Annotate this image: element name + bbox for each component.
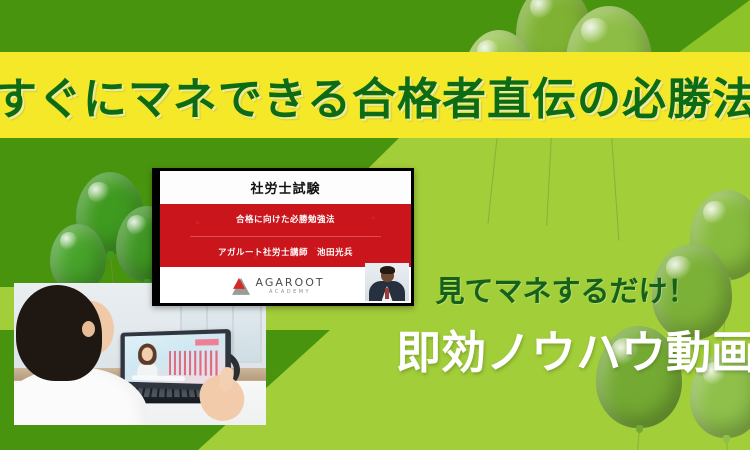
- slide-presenter: アガルート社労士講師 池田光兵: [218, 246, 353, 258]
- slide-footer: AGAROOT ACADEMY: [160, 267, 411, 303]
- slide-red-band: 合格に向けた必勝勉強法 アガルート社労士講師 池田光兵: [160, 204, 411, 267]
- balloon-left-3: [50, 224, 106, 292]
- agaroot-logo-sub: ACADEMY: [256, 290, 325, 295]
- slide-inner: 社労士試験 合格に向けた必勝勉強法 アガルート社労士講師 池田光兵 AGAROO…: [160, 171, 411, 303]
- agaroot-logo-name: AGAROOT: [256, 277, 325, 288]
- promo-text-block: 見てマネするだけ！ 即効ノウハウ動画: [396, 268, 736, 381]
- photo-student: [14, 285, 128, 425]
- presenter-tie: [385, 288, 389, 299]
- screen-lecturer: [137, 343, 157, 376]
- presenter-hair: [380, 266, 395, 274]
- screen-chart: [169, 350, 219, 375]
- lecture-slide: 社労士試験 合格に向けた必勝勉強法 アガルート社労士講師 池田光兵 AGAROO…: [152, 168, 414, 306]
- promo-line-2: 即効ノウハウ動画: [396, 316, 736, 381]
- headline-text: すぐにマネできる合格者直伝の必勝法: [0, 63, 750, 127]
- agaroot-logo: AGAROOT ACADEMY: [232, 277, 325, 295]
- slide-title: 社労士試験: [250, 178, 320, 197]
- headline-bar: すぐにマネできる合格者直伝の必勝法: [0, 52, 750, 138]
- promo-banner: すぐにマネできる合格者直伝の必勝法 社労士試験 合格に向けた必勝勉強法 アガルー…: [0, 0, 750, 450]
- student-ear: [82, 321, 95, 337]
- agaroot-triangle-icon: [232, 277, 251, 294]
- agaroot-logo-text: AGAROOT ACADEMY: [256, 277, 325, 295]
- slide-divider: [190, 236, 381, 237]
- promo-line-1: 見てマネするだけ！: [396, 268, 736, 310]
- screen-label-tag: [195, 339, 218, 346]
- screen-control-bar: [132, 375, 185, 381]
- slide-title-row: 社労士試験: [160, 171, 411, 204]
- slide-subtitle: 合格に向けた必勝勉強法: [236, 213, 335, 225]
